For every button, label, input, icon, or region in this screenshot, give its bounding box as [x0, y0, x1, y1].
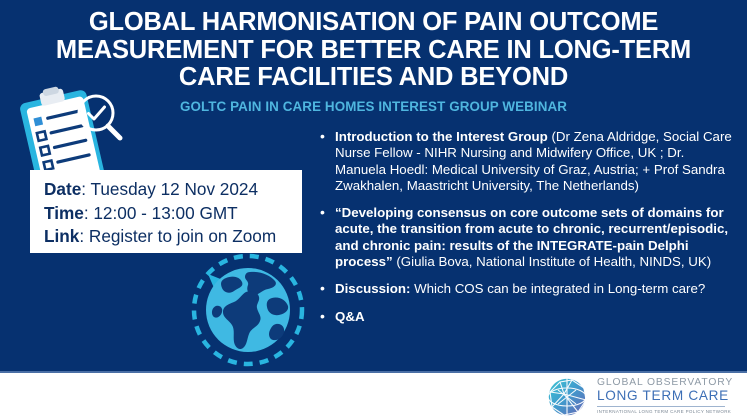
register-link[interactable]: Register to join on Zoom	[89, 226, 276, 246]
logo-wordmark: GLOBAL OBSERVATORY LONG TERM CARE INTERN…	[597, 377, 737, 415]
logo-tagline: INTERNATIONAL LONG TERM CARE POLICY NETW…	[597, 409, 737, 415]
date-label: Date	[44, 179, 81, 199]
logo-line-global-observatory: GLOBAL OBSERVATORY	[597, 377, 737, 389]
agenda-item-title: Discussion:	[335, 281, 410, 296]
agenda-item-title: Q&A	[335, 309, 365, 324]
magnifier-check-icon	[70, 88, 130, 148]
agenda-item-title: Introduction to the Interest Group	[335, 129, 548, 144]
event-detail-time: Time: 12:00 - 13:00 GMT	[44, 202, 302, 226]
logo-line-long-term-care: LONG TERM CARE	[597, 389, 737, 404]
event-detail-link[interactable]: Link: Register to join on Zoom	[44, 225, 302, 249]
agenda-list: Introduction to the Interest Group (Dr Z…	[318, 129, 738, 336]
link-separator: :	[79, 226, 89, 246]
time-label: Time	[44, 203, 84, 223]
agenda-item-discussion: Discussion: Which COS can be integrated …	[318, 281, 738, 297]
title-line-1: GLOBAL HARMONISATION OF PAIN OUTCOME	[22, 9, 725, 37]
agenda-item-introduction: Introduction to the Interest Group (Dr Z…	[318, 129, 738, 194]
event-detail-date: Date: Tuesday 12 Nov 2024	[44, 178, 302, 202]
date-value: Tuesday 12 Nov 2024	[91, 179, 259, 199]
page-title: GLOBAL HARMONISATION OF PAIN OUTCOME MEA…	[22, 9, 725, 92]
time-value: 12:00 - 13:00 GMT	[93, 203, 237, 223]
webinar-poster: GLOBAL HARMONISATION OF PAIN OUTCOME MEA…	[0, 0, 747, 420]
date-separator: :	[81, 179, 90, 199]
link-label: Link	[44, 226, 79, 246]
agenda-item-detail: Which COS can be integrated in Long-term…	[410, 281, 705, 296]
agenda-item-detail: (Giulia Bova, National Institute of Heal…	[393, 254, 712, 269]
event-details-card: Date: Tuesday 12 Nov 2024 Time: 12:00 - …	[30, 170, 302, 253]
time-separator: :	[84, 203, 94, 223]
faceted-globe-logo-icon	[546, 376, 590, 418]
globe-orbit-icon	[186, 248, 310, 368]
goltc-logo: GLOBAL OBSERVATORY LONG TERM CARE INTERN…	[546, 374, 736, 418]
title-line-2: MEASUREMENT FOR BETTER CARE IN LONG-TERM	[22, 37, 725, 65]
agenda-item-consensus-talk: “Developing consensus on core outcome se…	[318, 205, 738, 270]
logo-divider	[597, 406, 725, 407]
agenda-item-qa: Q&A	[318, 309, 738, 325]
